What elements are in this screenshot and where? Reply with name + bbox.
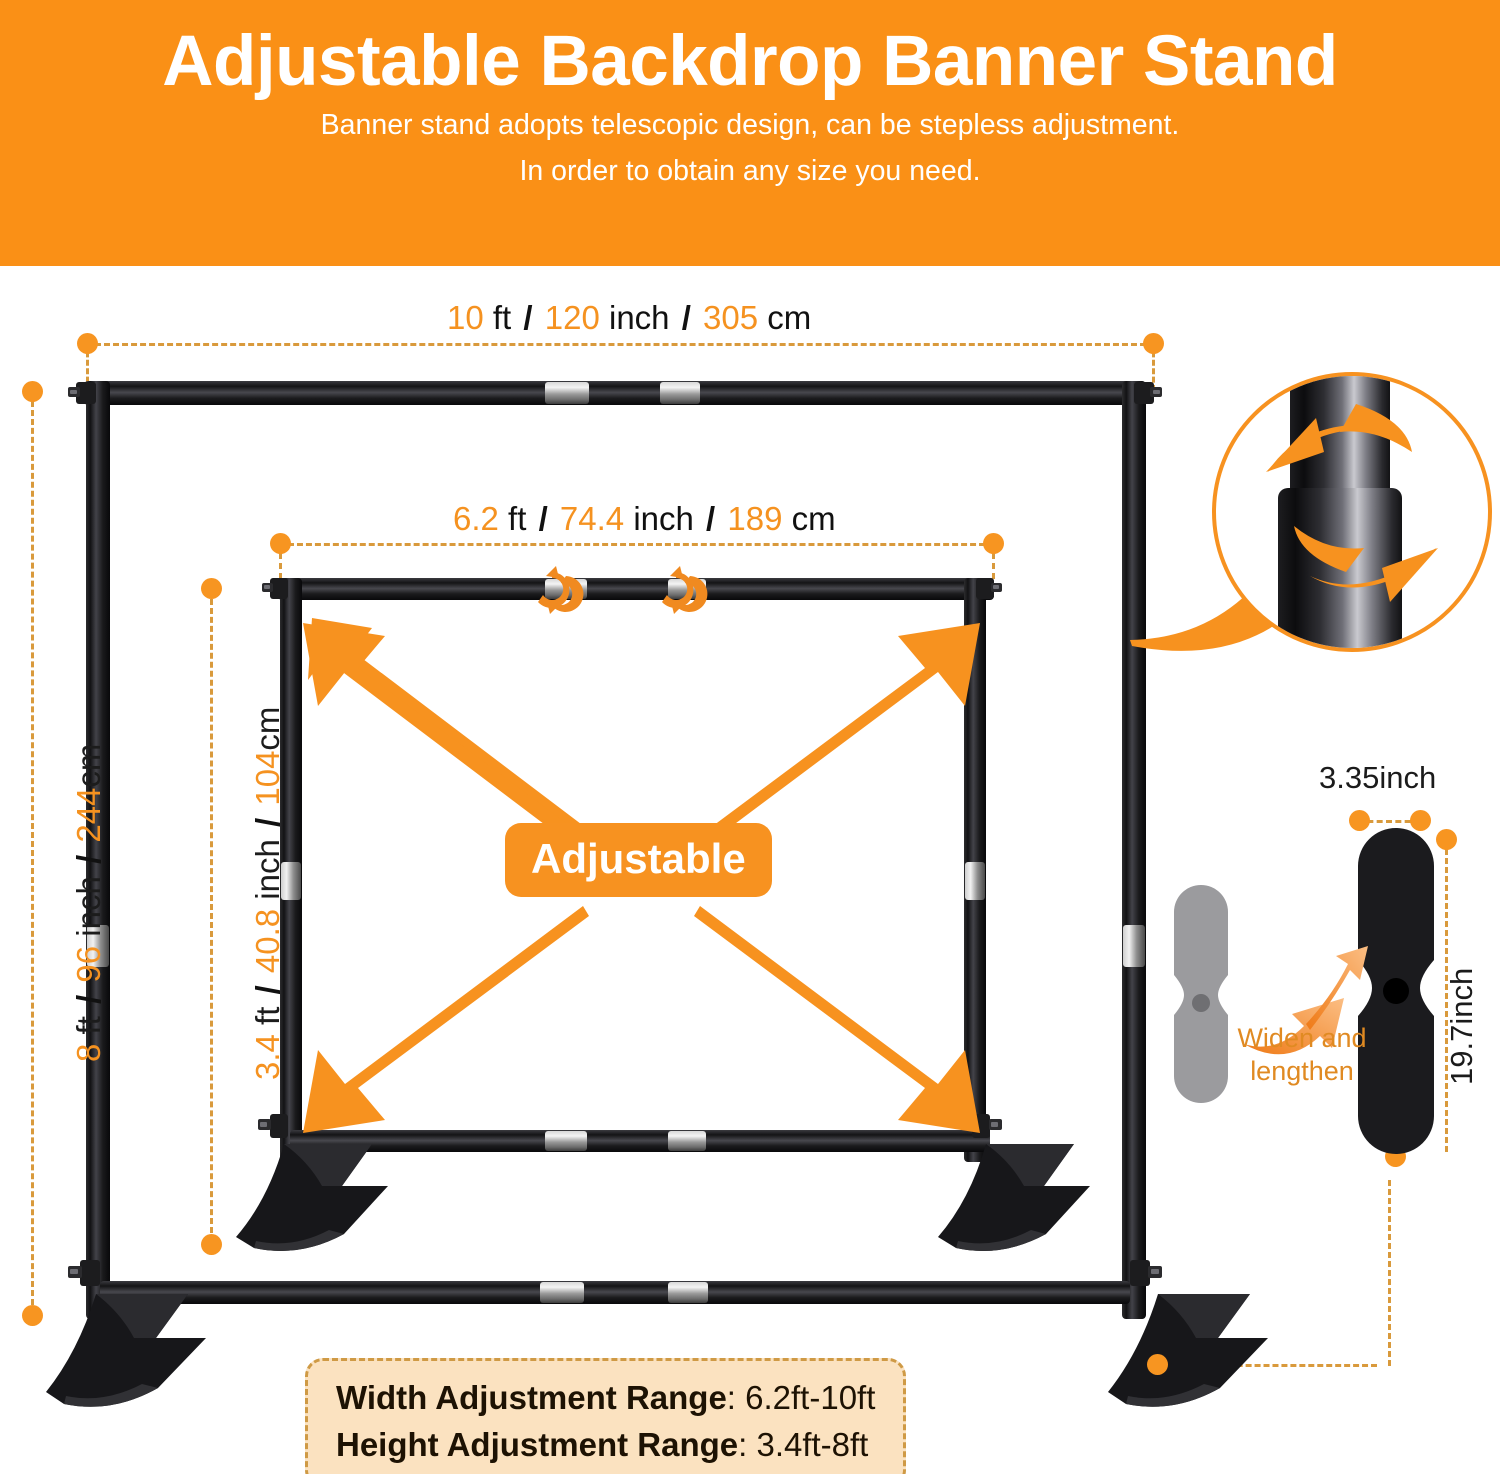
adjustable-badge: Adjustable	[505, 823, 772, 897]
outer-top-left-knob-icon	[68, 378, 98, 410]
outer-width-dot-left	[77, 333, 98, 354]
foot-detail-caption: Widen and lengthen	[1222, 1022, 1382, 1088]
inner-width-dot-right	[983, 533, 1004, 554]
header-subtitle-line-2: In order to obtain any size you need.	[0, 148, 1500, 194]
outer-bottom-collar-left	[540, 1282, 584, 1303]
width-range-row: Width Adjustment Range: 6.2ft-10ft	[336, 1375, 875, 1422]
inner-right-pole-collar	[965, 862, 985, 900]
height-range-row: Height Adjustment Range: 3.4ft-8ft	[336, 1422, 875, 1469]
inner-bottom-right-knob-icon	[970, 1112, 1002, 1144]
outer-right-pole-collar	[1123, 925, 1145, 967]
height-range-value: : 3.4ft-8ft	[738, 1426, 868, 1463]
foot-length-label: 19.7inch	[1444, 968, 1480, 1085]
inner-bottom-collar-left	[545, 1131, 587, 1151]
foot-detail-caption-line-2: lengthen	[1222, 1055, 1382, 1088]
outer-width-guide-line	[95, 343, 1155, 346]
inner-width-guide-line	[288, 543, 994, 546]
inner-height-dot-bottom	[201, 1234, 222, 1255]
outer-bottom-left-knob-icon	[68, 1258, 102, 1292]
outer-height-dot-bottom	[22, 1305, 43, 1326]
inner-height-dot-top	[201, 578, 222, 599]
outer-bottom-right-knob-icon	[1128, 1258, 1162, 1292]
outer-bottom-crossbar	[100, 1281, 1130, 1304]
outer-height-dot-top	[22, 381, 43, 402]
foot-detail-connector-dot	[1147, 1354, 1168, 1375]
outer-bottom-collar-right	[668, 1282, 708, 1303]
outer-top-collar-right	[660, 382, 700, 404]
header-banner: Adjustable Backdrop Banner Stand Banner …	[0, 0, 1500, 266]
inner-width-dot-left	[270, 533, 291, 554]
inner-top-right-knob-icon	[974, 575, 1002, 605]
outer-height-label: 8 ft / 96 inch / 244cm	[70, 744, 108, 1062]
telescopic-joint-magnifier	[1212, 372, 1492, 652]
foot-detail-caption-line-1: Widen and	[1222, 1022, 1382, 1055]
foot-width-label: 3.35inch	[1319, 760, 1436, 796]
product-infographic: Adjustable Backdrop Banner Stand Banner …	[0, 0, 1500, 1474]
page-title: Adjustable Backdrop Banner Stand	[0, 22, 1500, 102]
outer-width-label: 10 ft / 120 inch / 305 cm	[447, 299, 811, 337]
width-range-label: Width Adjustment Range	[336, 1379, 727, 1416]
outer-width-dot-right	[1143, 333, 1164, 354]
adjustment-range-box: Width Adjustment Range: 6.2ft-10ft Heigh…	[305, 1358, 906, 1474]
outer-left-foot	[38, 1292, 218, 1414]
outer-top-collar-left	[545, 382, 589, 404]
inner-height-guide-line	[210, 590, 213, 1242]
foot-detail-connector-vertical	[1388, 1180, 1391, 1366]
width-range-value: : 6.2ft-10ft	[727, 1379, 876, 1416]
header-subtitle-line-1: Banner stand adopts telescopic design, c…	[0, 102, 1500, 148]
inner-bottom-left-knob-icon	[258, 1112, 290, 1144]
outer-right-foot	[1100, 1292, 1280, 1414]
inner-top-crossbar	[278, 578, 994, 600]
outer-height-guide-line	[31, 392, 34, 1314]
foot-length-dot-top	[1436, 829, 1457, 850]
inner-left-foot	[230, 1142, 400, 1258]
inner-width-label: 6.2 ft / 74.4 inch / 189 cm	[453, 500, 836, 538]
inner-top-collar-right	[668, 579, 706, 599]
magnifier-rotation-arrows-icon	[1216, 376, 1488, 648]
inner-height-label: 3.4 ft / 40.8 inch / 104cm	[249, 707, 287, 1080]
inner-bottom-collar-right	[668, 1131, 706, 1151]
outer-top-crossbar	[84, 381, 1144, 405]
inner-right-foot	[932, 1142, 1102, 1258]
height-range-label: Height Adjustment Range	[336, 1426, 738, 1463]
outer-top-right-knob-icon	[1132, 378, 1162, 410]
inner-top-collar-left	[545, 579, 587, 599]
inner-top-left-knob-icon	[262, 575, 290, 605]
